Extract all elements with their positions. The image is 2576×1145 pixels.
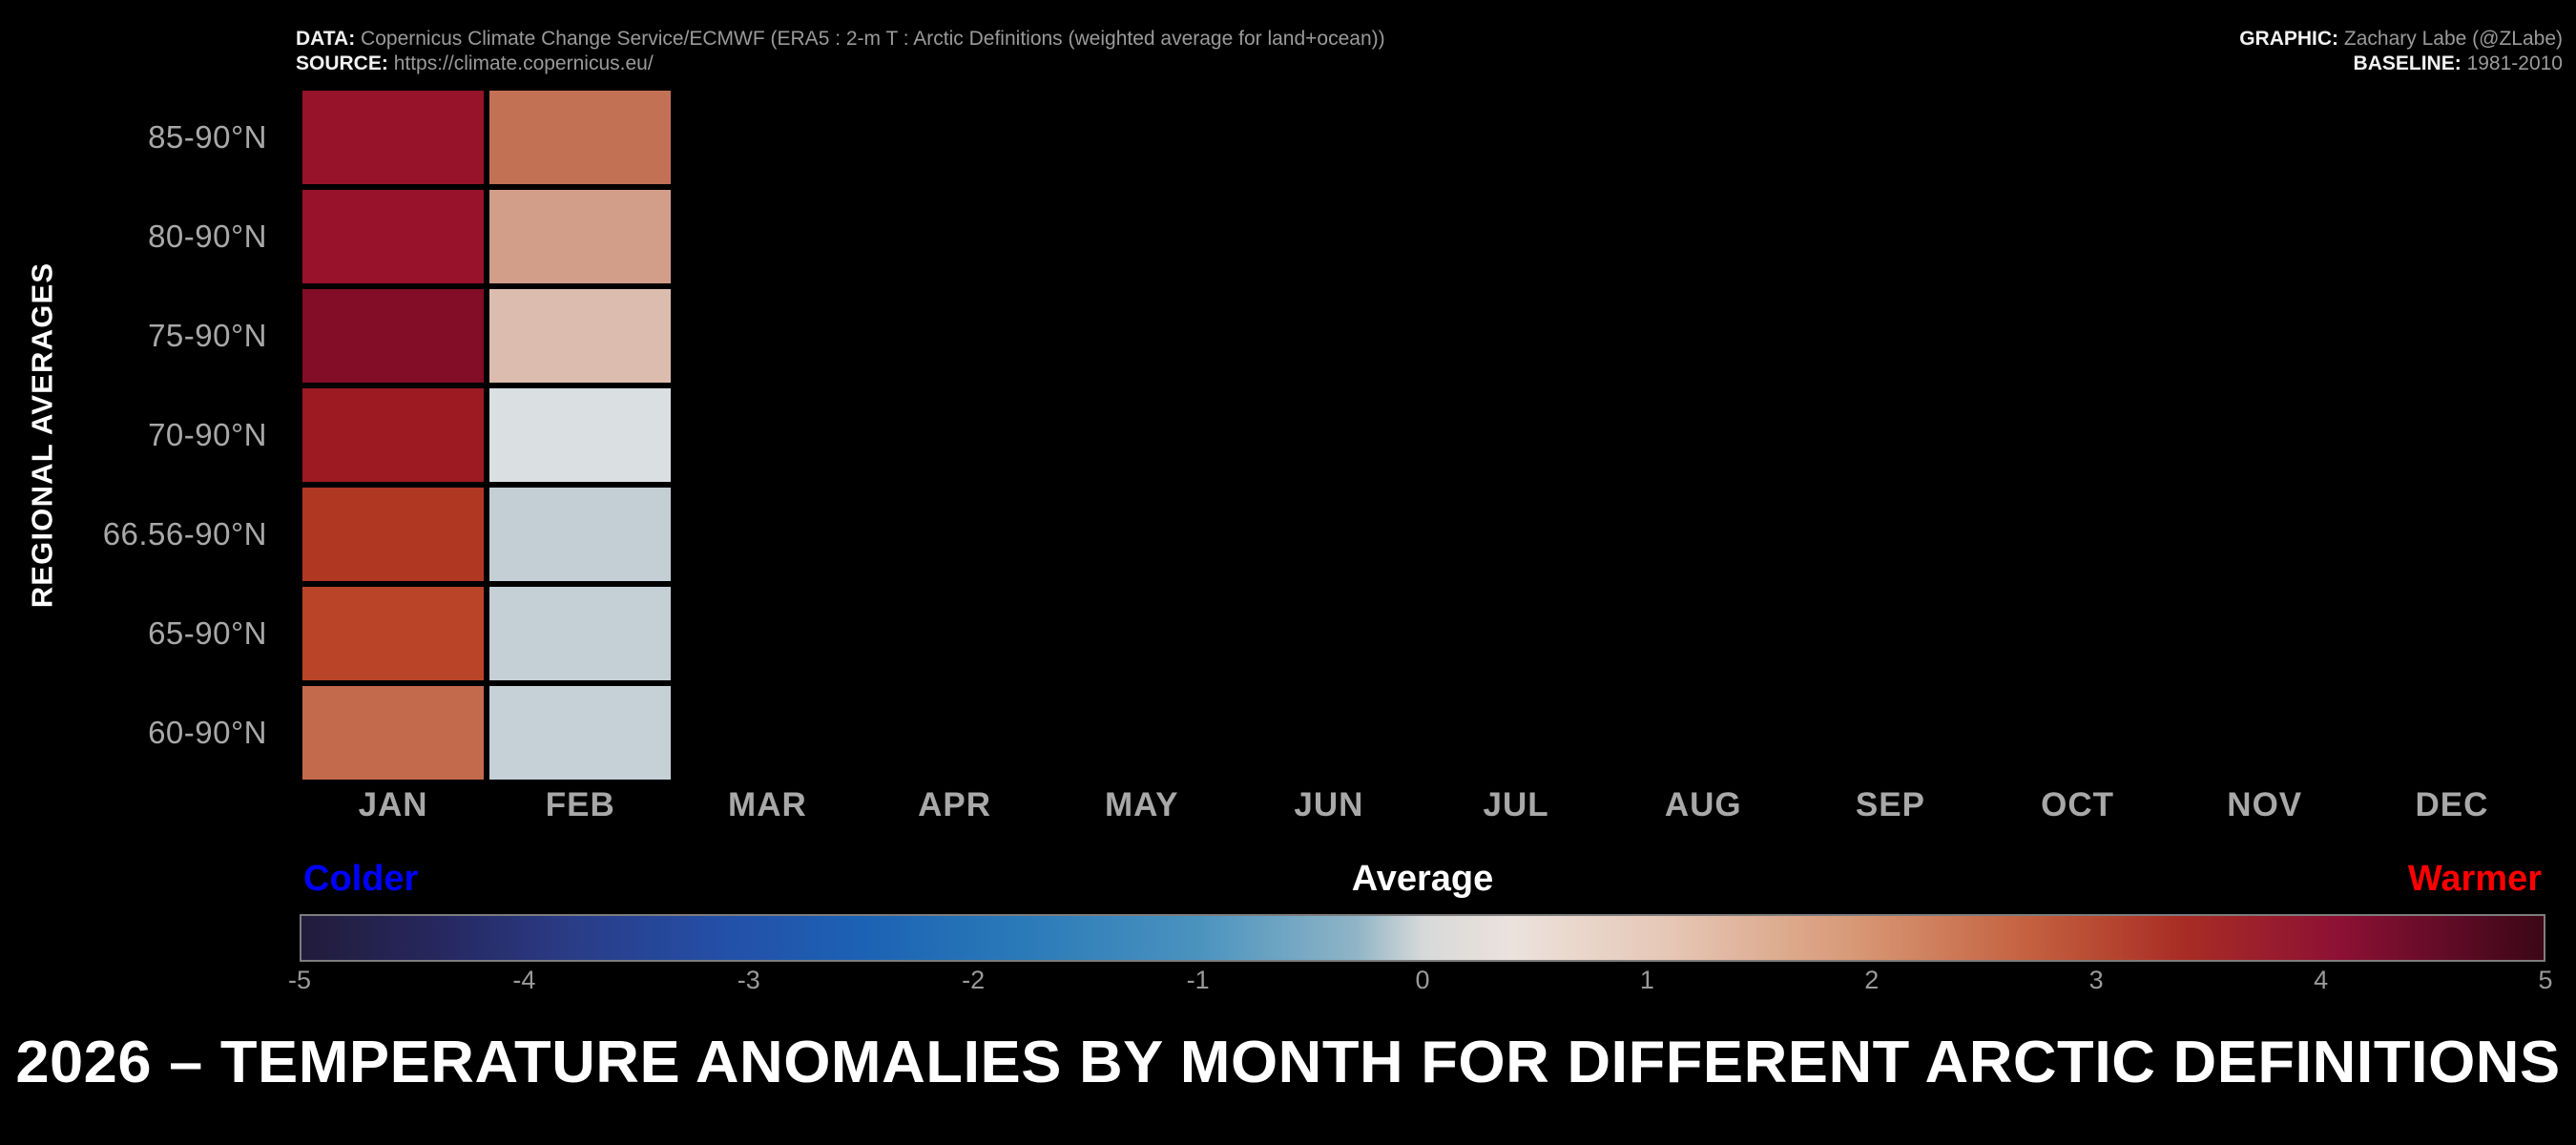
colorbar-tick-label: 4 (2283, 966, 2359, 995)
x-axis-tick-label: SEP (1797, 786, 1984, 824)
colorbar-tick-label: 0 (1384, 966, 1461, 995)
colorbar-tick-label: 3 (2058, 966, 2134, 995)
y-axis-tick-label: 65-90°N (0, 584, 282, 683)
colorbar-tick-label: 5 (2507, 966, 2576, 995)
y-axis-tick-label: 70-90°N (0, 385, 282, 485)
heatmap-column (2171, 88, 2358, 782)
x-axis-tick-labels: JANFEBMARAPRMAYJUNJULAUGSEPOCTNOVDEC (300, 786, 2545, 840)
heatmap-cell[interactable] (487, 385, 674, 485)
baseline-credit-label: BASELINE: (2354, 52, 2462, 74)
header-credits-right: GRAPHIC: Zachary Labe (@ZLabe) BASELINE:… (2239, 27, 2563, 77)
heatmap-column (1423, 88, 1610, 782)
x-axis-tick-label: JUL (1423, 786, 1610, 824)
heatmap-column (862, 88, 1049, 782)
y-axis-tick-label: 75-90°N (0, 286, 282, 385)
source-credit-value[interactable]: https://climate.copernicus.eu/ (394, 52, 654, 74)
heatmap-cell[interactable] (487, 286, 674, 385)
colorbar: Colder Average Warmer -5-4-3-2-1012345 (300, 914, 2545, 962)
colorbar-tick-label: -3 (711, 966, 787, 995)
colorbar-tick-label: 1 (1609, 966, 1685, 995)
x-axis-tick-label: APR (862, 786, 1049, 824)
graphic-credit-label: GRAPHIC: (2239, 28, 2338, 50)
colorbar-tick-label: -4 (486, 966, 562, 995)
heatmap-column (2358, 88, 2545, 782)
heatmap-cell[interactable] (300, 683, 487, 782)
x-axis-tick-label: NOV (2171, 786, 2358, 824)
heatmap-column (1236, 88, 1423, 782)
x-axis-tick-label: AUG (1610, 786, 1797, 824)
heatmap-column (1984, 88, 2171, 782)
colorbar-tick-label: -5 (261, 966, 338, 995)
heatmap-cell[interactable] (300, 584, 487, 683)
heatmap-column (300, 88, 487, 782)
data-credit-label: DATA: (296, 28, 355, 50)
y-axis-tick-label: 80-90°N (0, 187, 282, 286)
graphic-credit-line: GRAPHIC: Zachary Labe (@ZLabe) (2239, 27, 2563, 52)
heatmap-column (487, 88, 674, 782)
heatmap-column (1797, 88, 1984, 782)
x-axis-tick-label: JAN (300, 786, 487, 824)
baseline-credit-value: 1981-2010 (2467, 52, 2563, 74)
heatmap-cell[interactable] (487, 683, 674, 782)
x-axis-tick-label: FEB (487, 786, 674, 824)
x-axis-tick-label: OCT (1984, 786, 2171, 824)
y-axis-tick-label: 85-90°N (0, 88, 282, 187)
baseline-credit-line: BASELINE: 1981-2010 (2239, 52, 2563, 76)
x-axis-tick-label: MAR (674, 786, 861, 824)
graphic-credit-value: Zachary Labe (@ZLabe) (2344, 28, 2563, 50)
x-axis-tick-label: JUN (1236, 786, 1423, 824)
heatmap-cell[interactable] (487, 187, 674, 286)
heatmap-cell[interactable] (487, 485, 674, 584)
header-credits-left: DATA: Copernicus Climate Change Service/… (296, 27, 1385, 77)
heatmap-cell[interactable] (300, 88, 487, 187)
heatmap-cell[interactable] (300, 385, 487, 485)
colorbar-tick-label: -2 (935, 966, 1011, 995)
y-axis-tick-label: 66.56-90°N (0, 485, 282, 584)
colorbar-tick-label: -1 (1160, 966, 1236, 995)
heatmap-column (674, 88, 861, 782)
colorbar-tick-label: 2 (1834, 966, 1910, 995)
heatmap-grid (300, 88, 2545, 782)
heatmap-cell[interactable] (487, 584, 674, 683)
colorbar-gradient (300, 914, 2545, 962)
x-axis-tick-label: DEC (2358, 786, 2545, 824)
y-axis-tick-label: 60-90°N (0, 683, 282, 782)
heatmap-cell[interactable] (300, 187, 487, 286)
heatmap-cell[interactable] (300, 485, 487, 584)
source-credit-line: SOURCE: https://climate.copernicus.eu/ (296, 52, 1385, 76)
heatmap-cell[interactable] (487, 88, 674, 187)
x-axis-tick-label: MAY (1049, 786, 1236, 824)
figure-title: 2026 – TEMPERATURE ANOMALIES BY MONTH FO… (0, 1029, 2576, 1096)
colorbar-warmer-label: Warmer (2408, 859, 2542, 900)
figure-canvas: DATA: Copernicus Climate Change Service/… (0, 0, 2576, 1145)
data-credit-value: Copernicus Climate Change Service/ECMWF … (361, 28, 1385, 50)
heatmap-column (1049, 88, 1236, 782)
heatmap-cell[interactable] (300, 286, 487, 385)
heatmap-column (1610, 88, 1797, 782)
colorbar-average-label: Average (1352, 859, 1494, 900)
colorbar-colder-label: Colder (303, 859, 418, 900)
data-credit-line: DATA: Copernicus Climate Change Service/… (296, 27, 1385, 52)
source-credit-label: SOURCE: (296, 52, 388, 74)
